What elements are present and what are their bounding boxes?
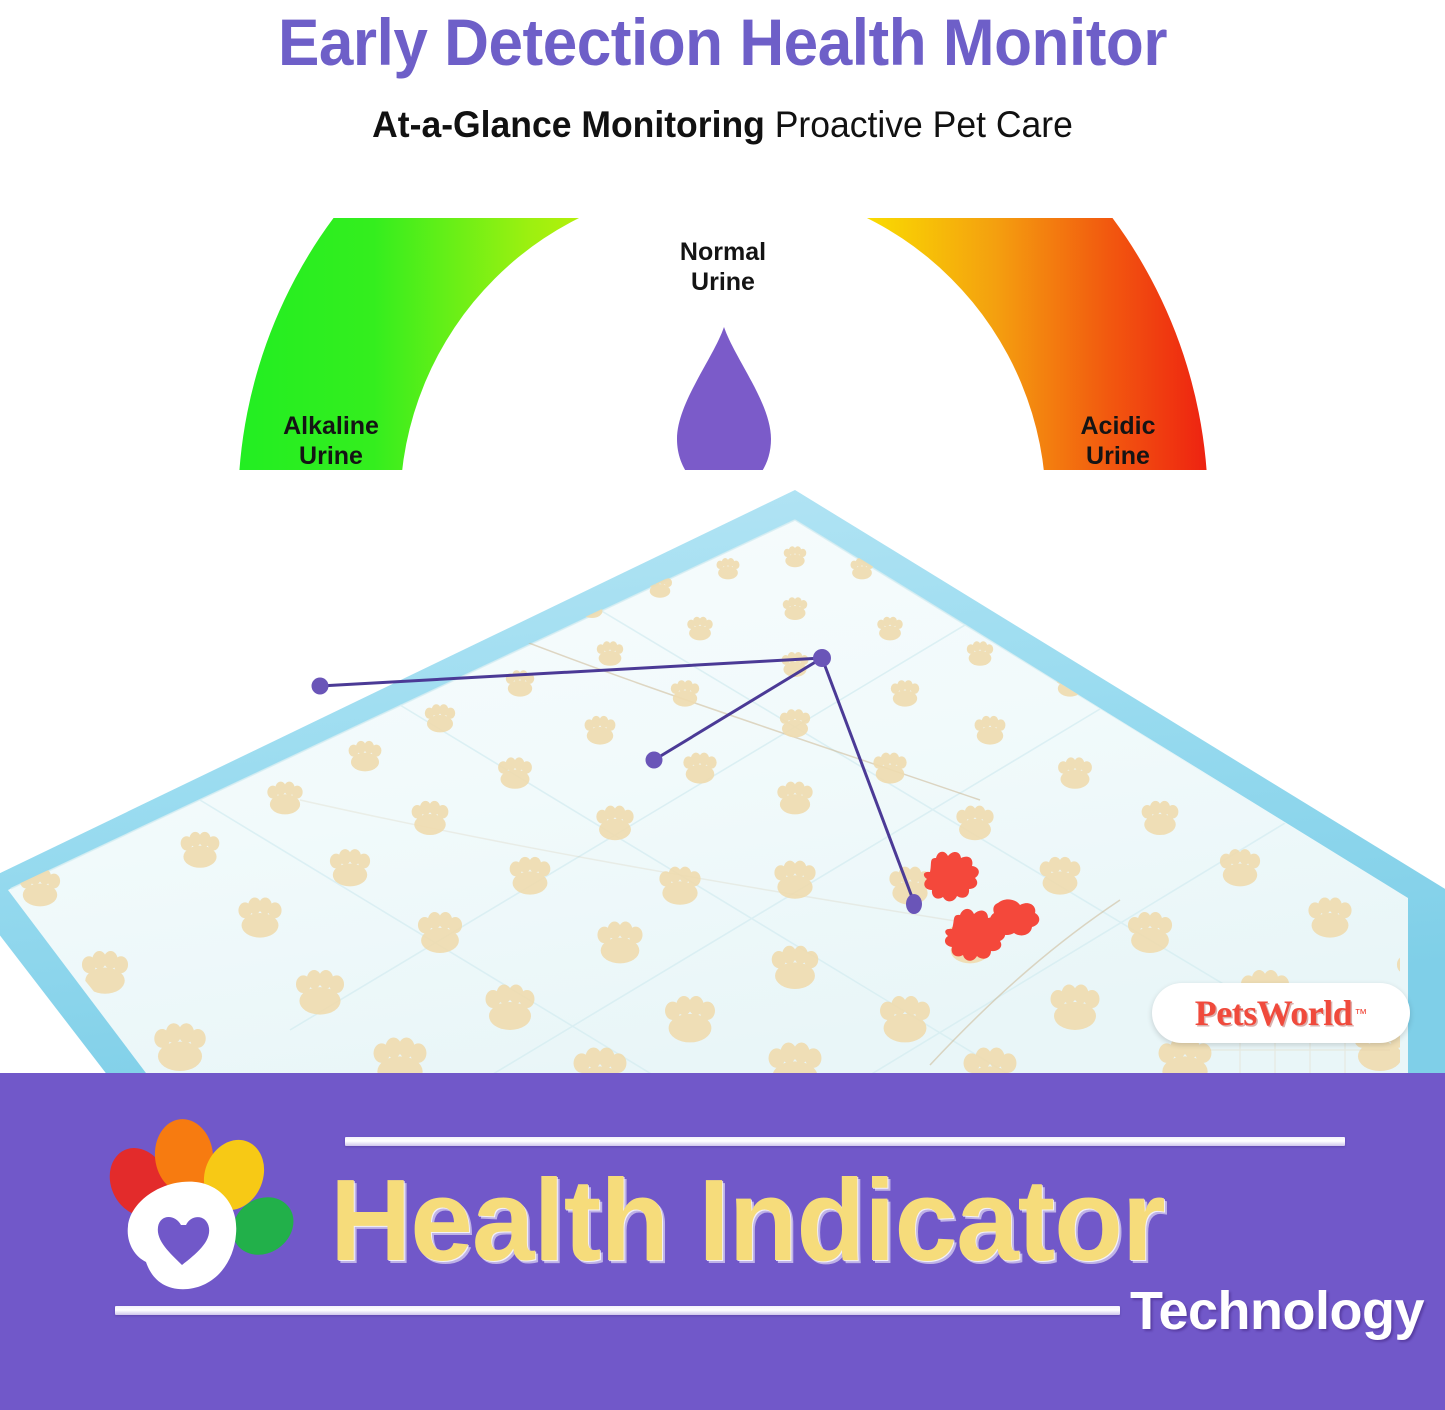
banner-subline: Technology [1130,1281,1445,1341]
trademark-symbol: ™ [1354,1006,1367,1021]
banner-rule-top [345,1137,1345,1146]
subtitle-light-part: Proactive Pet Care [775,104,1073,145]
header-section: Early Detection Health Monitor At-a-Glan… [0,0,1445,175]
petsworld-logo: PetsWorld™ [1152,983,1410,1043]
gauge-label-normal: Normal Urine [623,238,823,297]
subtitle-bold-part: At-a-Glance Monitoring [372,104,765,145]
page-title: Early Detection Health Monitor [43,4,1401,80]
petsworld-wordmark: PetsWorld [1195,992,1352,1034]
gauge-label-alkaline: Alkaline Urine [241,412,421,471]
page-subtitle: At-a-Glance Monitoring Proactive Pet Car… [29,104,1416,146]
banner-headline: Health Indicator [330,1155,1407,1285]
gauge-label-acidic: Acidic Urine [1028,412,1208,471]
banner-rule-bottom [115,1306,1120,1315]
paw-heart-logo-icon [104,1110,304,1310]
